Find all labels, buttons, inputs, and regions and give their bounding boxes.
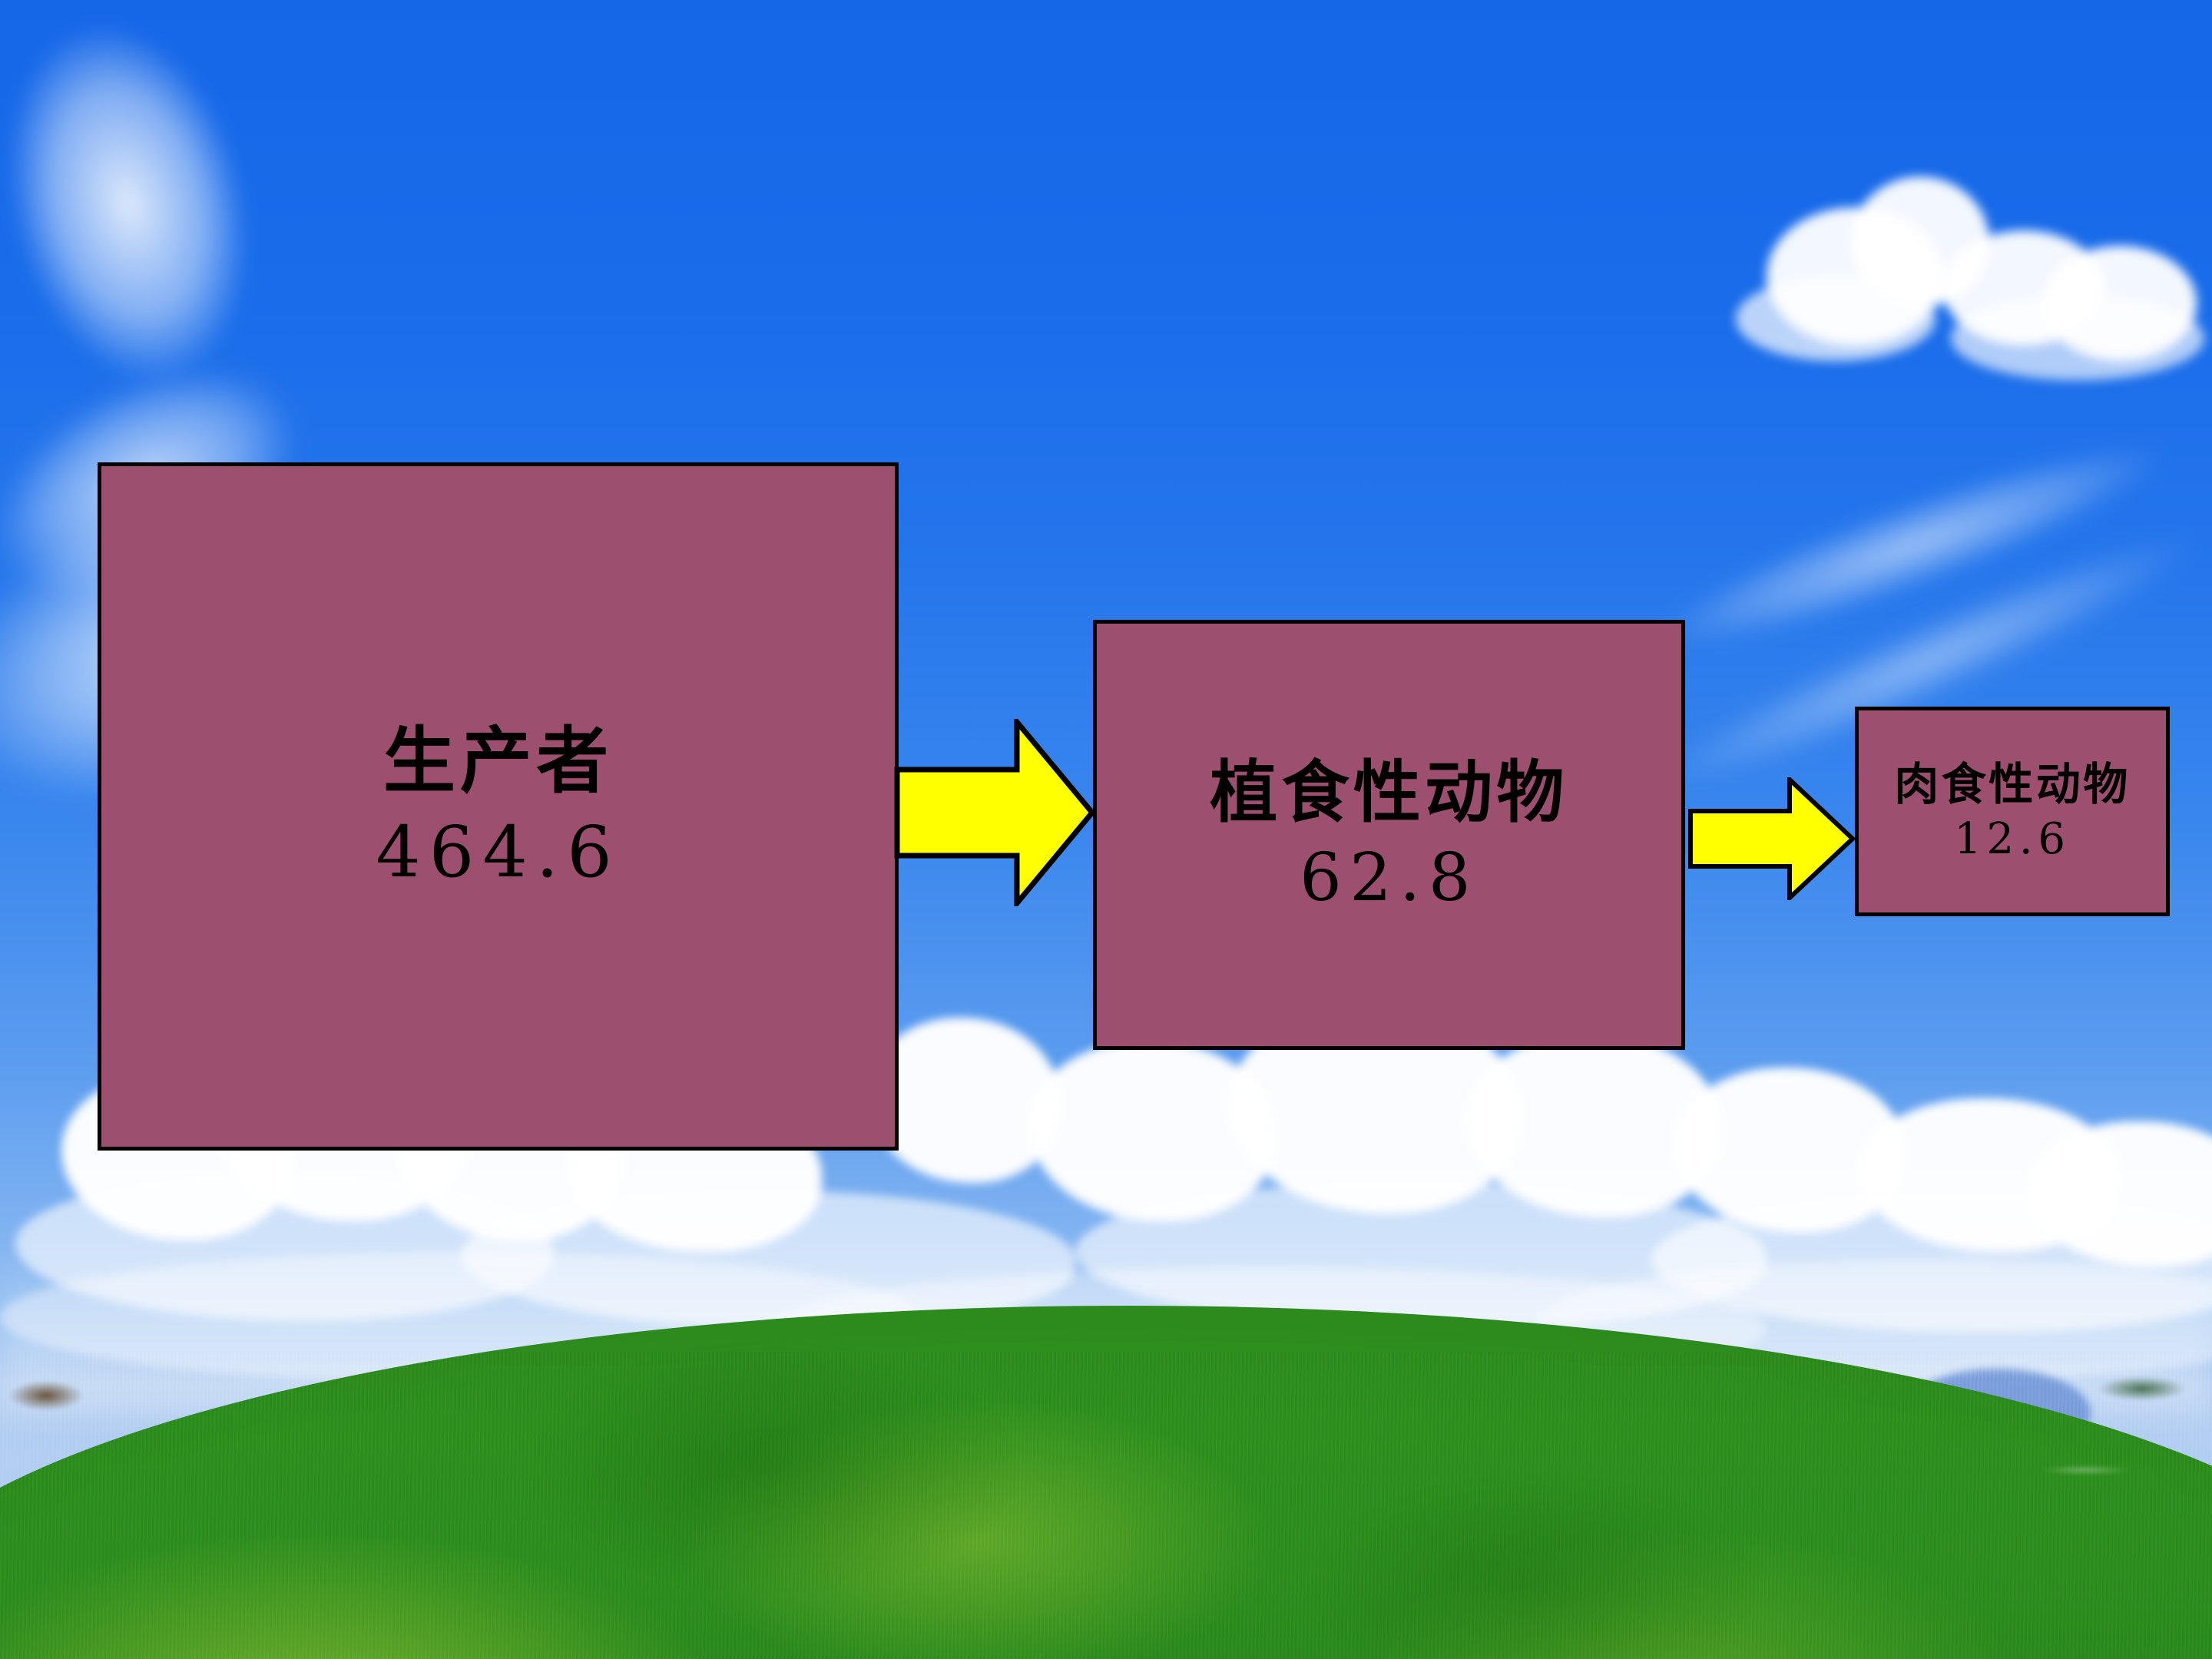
node-carnivore-value: 12.6 [1954, 816, 2071, 864]
cumulus-cloud-upper-right [1720, 161, 2212, 415]
right-arrow-icon-herbivore-to-carnivore [1688, 777, 1856, 900]
field-marking [2020, 1459, 2151, 1481]
node-producer-label: 生产者 [383, 721, 613, 802]
node-herbivore[interactable]: 植食性动物 62.8 [1093, 620, 1685, 1050]
slide-canvas: 生产者 464.6 植食性动物 62.8 肉食性动物 12.6 [0, 0, 2212, 1659]
node-herbivore-value: 62.8 [1300, 841, 1479, 915]
right-arrow-icon-producer-to-herbivore [894, 719, 1095, 906]
node-producer[interactable]: 生产者 464.6 [98, 462, 899, 1151]
node-producer-value: 464.6 [376, 813, 621, 892]
grass-tuft-right [2066, 1363, 2204, 1409]
node-carnivore[interactable]: 肉食性动物 12.6 [1855, 707, 2170, 916]
grass-texture [0, 1352, 2212, 1659]
node-carnivore-label: 肉食性动物 [1894, 760, 2130, 810]
grass-tuft-left [0, 1363, 115, 1417]
node-herbivore-label: 植食性动物 [1210, 755, 1568, 831]
